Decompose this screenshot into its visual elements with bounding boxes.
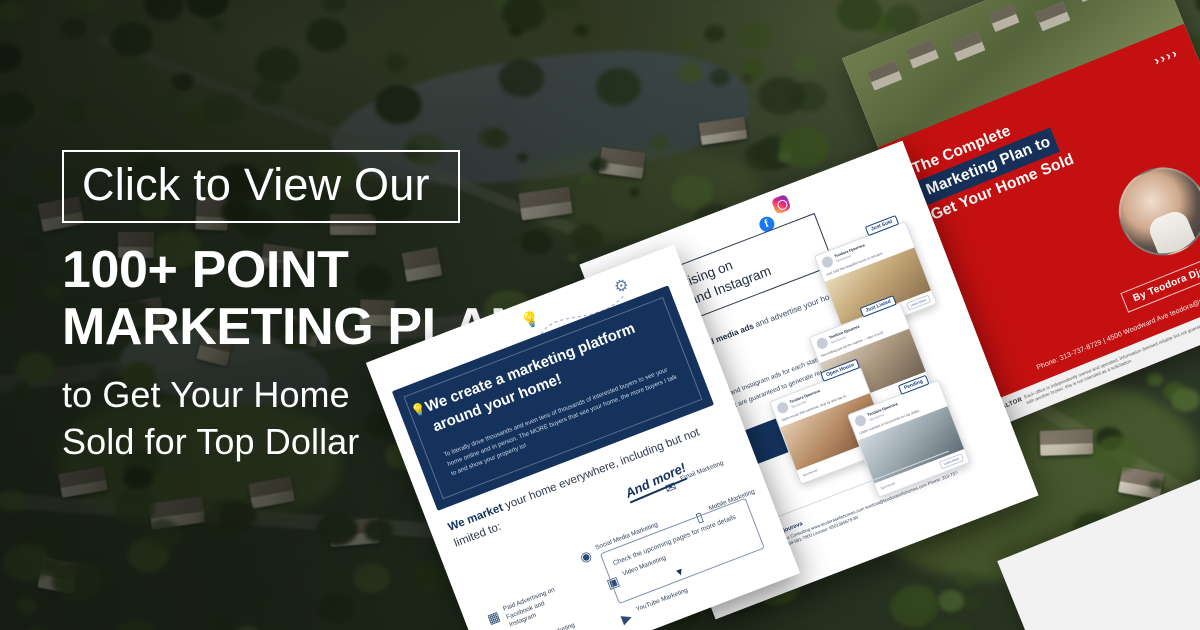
marketing-channel-item: ▦Paid Advertising on Facebook and Instag… [483,582,574,630]
agent-contact-lines: Realtor Re/Max Consulting www.teodorasel… [760,469,959,556]
avatar [820,255,834,269]
social-ads-icon: ▦ [483,608,504,629]
marketing-channel-label: Paid Advertising on Facebook and Instagr… [502,582,575,630]
avatar [776,401,790,415]
instagram-icon [771,194,792,215]
avatar [853,414,867,428]
ad-card-time: Sponsored [802,468,818,477]
social-media-icon: ◉ [576,546,597,567]
agent-name: Teodora Djourova [757,461,958,545]
marketing-channel-label: Print Marketing [533,622,576,630]
youtube-icon: ▶ [616,608,637,629]
avatar [815,336,829,350]
brochure-artwork[interactable]: ›››› The Complete Marketing Plan to Get … [0,0,1200,630]
promo-banner[interactable]: Click to View Our 100+ POINT MARKETING P… [0,0,1200,630]
